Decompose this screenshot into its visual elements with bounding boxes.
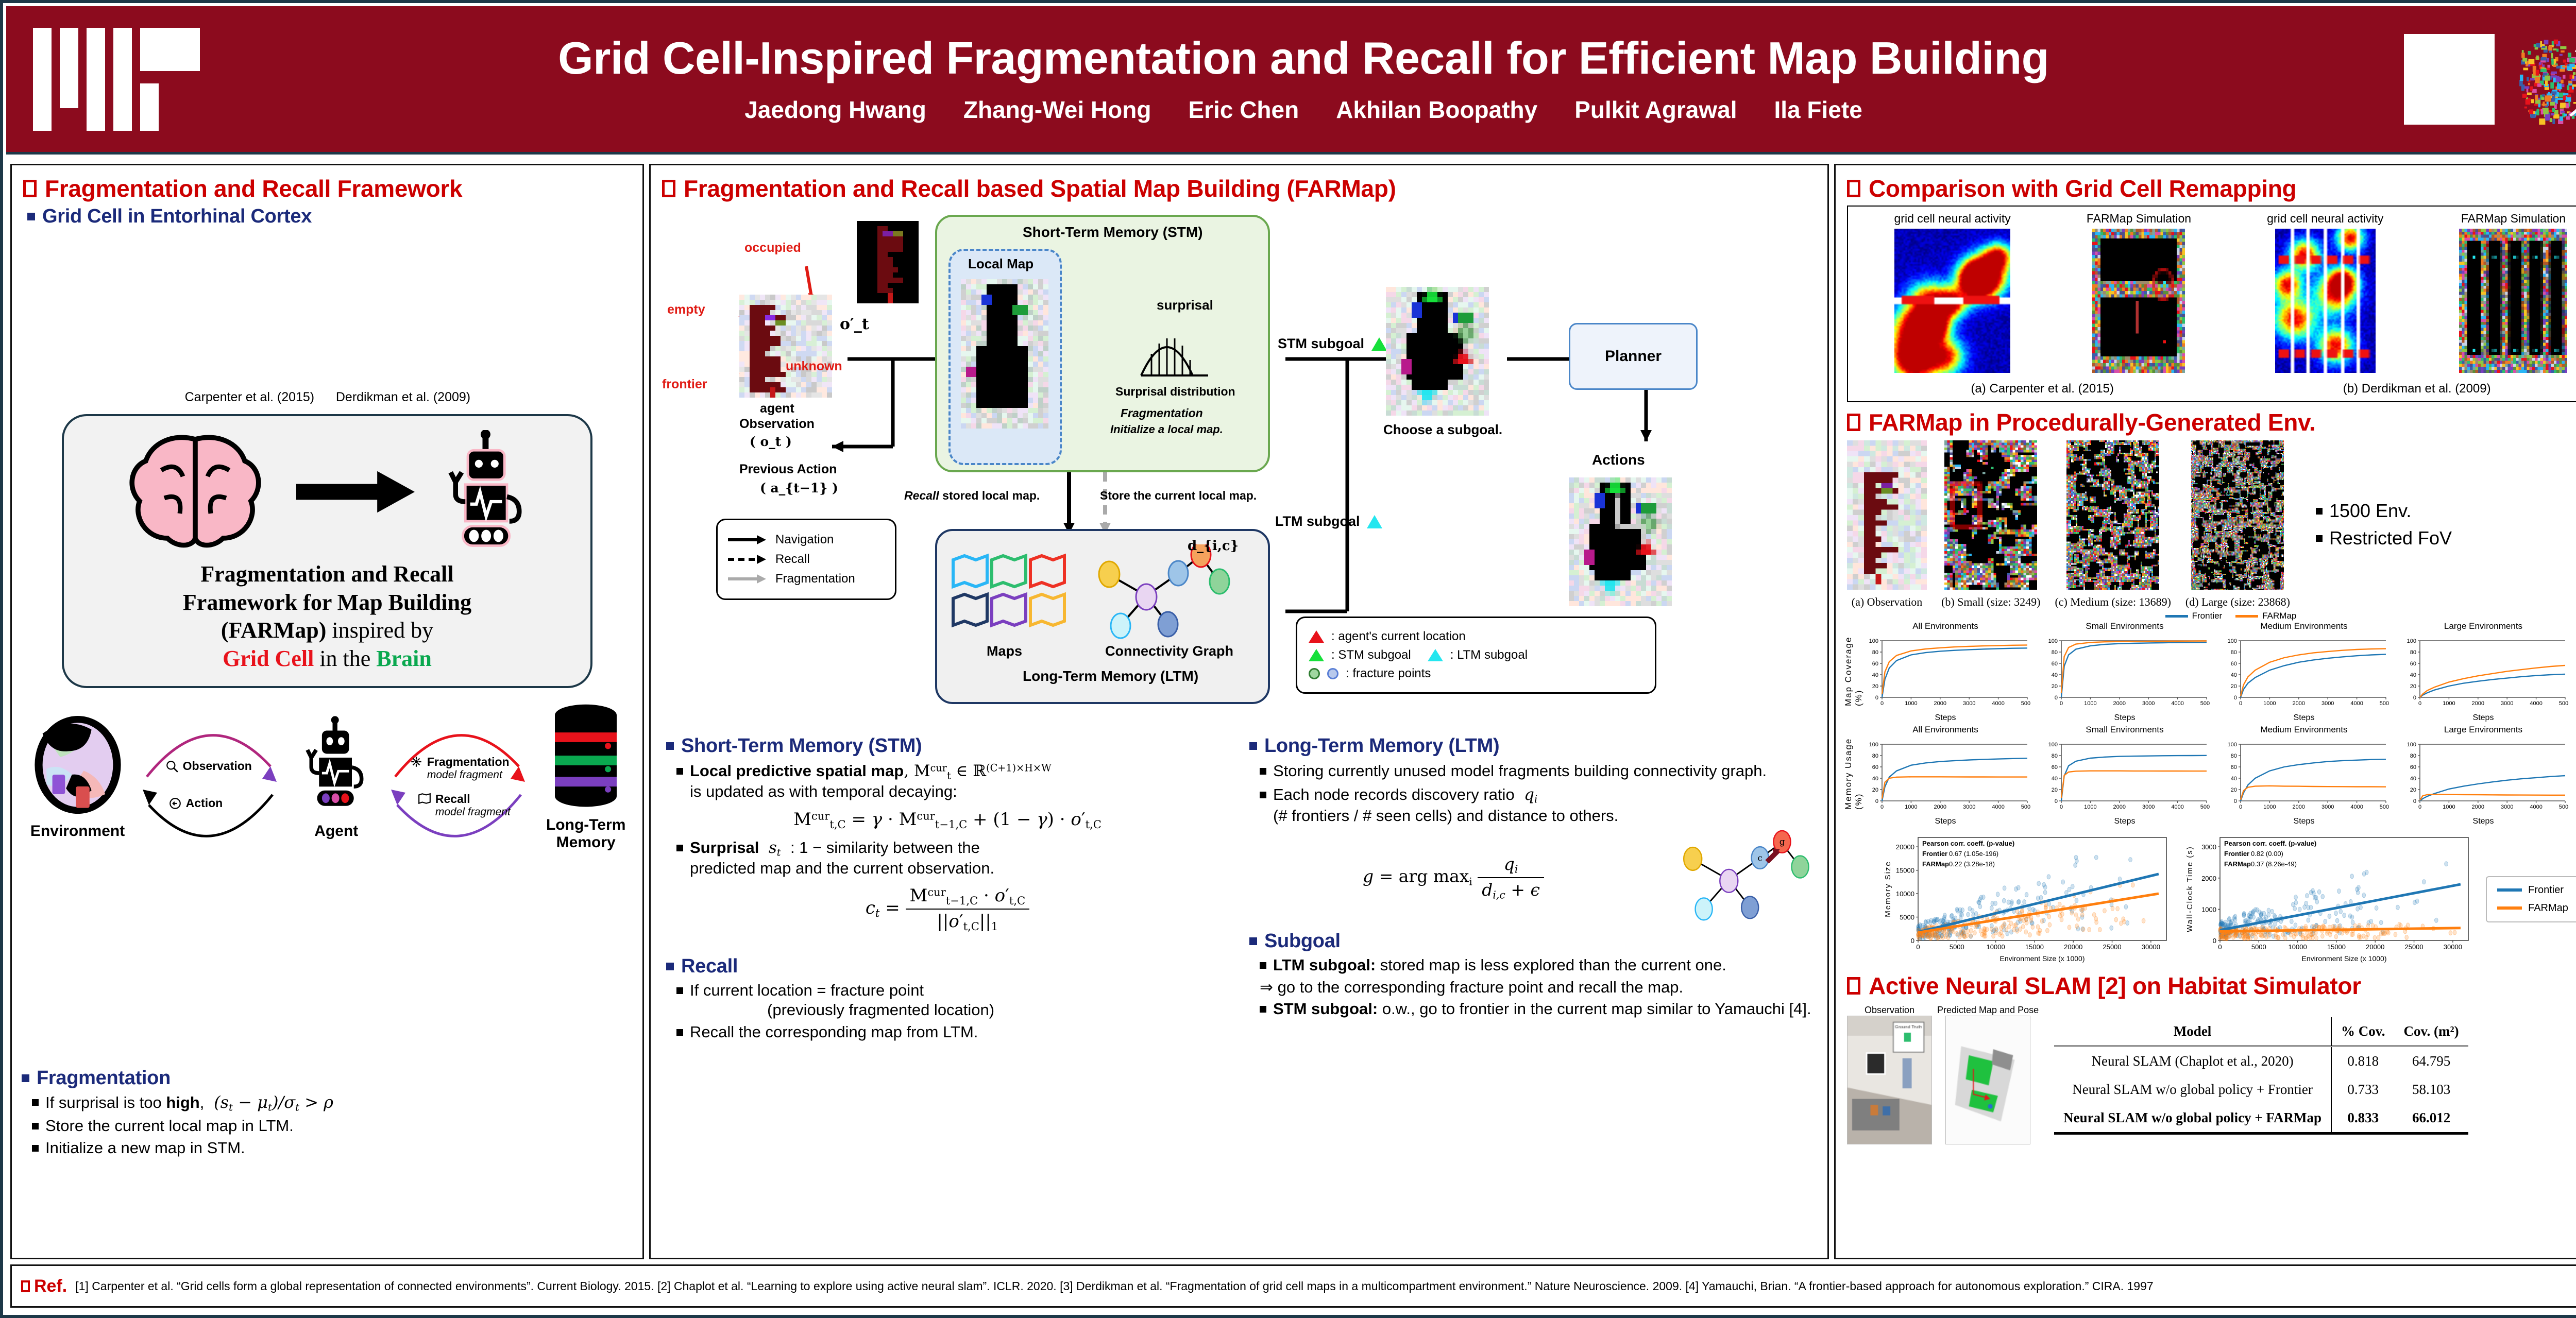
grid-cell-stripes-icon <box>2275 229 2376 373</box>
grid-cell-heatmap-icon <box>184 234 315 383</box>
section-title-text: Active Neural SLAM [2] on Habitat Simula… <box>1869 972 2361 1000</box>
svg-text:80: 80 <box>1872 649 1878 656</box>
label-agent: agent <box>760 401 794 416</box>
svg-text:60: 60 <box>2052 764 2058 771</box>
farmap-acronym: (FARMap) <box>221 618 326 643</box>
proc-bullet-text: Restricted FoV <box>2329 527 2452 550</box>
svg-text:4000: 4000 <box>2530 804 2542 810</box>
section-title-procedural: FARMap in Procedurally-Generated Env. <box>1847 408 2576 436</box>
chart-xlabel: Steps <box>1860 713 2030 723</box>
svg-text:40: 40 <box>2231 776 2237 782</box>
chart-cell: Medium Environments020406080100010002000… <box>2219 725 2389 826</box>
stm-bullet-1: Local predictive spatial map, Mcurt ∈ ℝ(… <box>676 761 1233 802</box>
farmap-simulation-image <box>2092 229 2185 373</box>
remapping-panel: grid cell neural activity FARMap Simulat… <box>1847 206 2576 402</box>
marker-legend-box: : agent's current location : STM subgoal… <box>1296 617 1656 694</box>
svg-text:80: 80 <box>2052 753 2058 759</box>
recall-bullet-1: If current location = fracture point (pr… <box>676 981 1233 1020</box>
fracture-point-icon <box>1309 668 1320 679</box>
chart-xlabel: Steps <box>2398 713 2568 723</box>
table-cell-pct-cov: 0.733 <box>2331 1075 2395 1104</box>
svg-text:FARMap: FARMap <box>2224 860 2251 868</box>
svg-text:20000: 20000 <box>2064 943 2082 951</box>
svg-text:40: 40 <box>2410 776 2416 782</box>
cyan-triangle-icon <box>1367 515 1382 528</box>
loop-label-fragmentation: Fragmentation <box>427 755 510 768</box>
mit-logo-icon <box>33 28 203 131</box>
stm-bullet-2: Surprisal st : 1 − similarity between th… <box>676 838 1233 879</box>
svg-text:10000: 10000 <box>1987 943 2005 951</box>
table-header-model: Model <box>2054 1017 2331 1047</box>
chart-row-scatter: 0500010000150002000005000100001500020000… <box>1847 831 2576 967</box>
label-maps: Maps <box>987 643 1022 659</box>
svg-text:3000: 3000 <box>2321 804 2334 810</box>
ltm-heading: Long-Term Memory (LTM) <box>1249 735 1816 757</box>
ref-label: Ref. <box>21 1276 67 1296</box>
ref-label-text: Ref. <box>34 1276 67 1296</box>
author-name: Eric Chen <box>1188 96 1299 124</box>
section-title-text: FARMap in Procedurally-Generated Env. <box>1869 408 2315 436</box>
small-env-image <box>1944 440 2037 590</box>
bullet-square-icon <box>22 1074 29 1082</box>
subgoal-map-image <box>1386 287 1489 416</box>
svg-text:100: 100 <box>1869 742 1878 748</box>
references-footer: Ref. [1] Carpenter et al. “Grid cells fo… <box>10 1264 2576 1308</box>
fragmentation-bullet-1: If surprisal is too high, (st − μt)/σt >… <box>32 1092 641 1114</box>
in-the-text: in the <box>314 646 376 671</box>
svg-text:40: 40 <box>2231 672 2237 678</box>
remap-b-sim: FARMap Simulation <box>2459 212 2567 375</box>
loop-label-recall: Recall <box>435 792 470 806</box>
svg-text:FARMap: FARMap <box>1922 860 1949 868</box>
subgoal-heading: Subgoal <box>1249 930 1816 952</box>
table-row: Neural SLAM w/o global policy + Frontier… <box>2054 1075 2468 1104</box>
svg-text:60: 60 <box>1872 764 1878 771</box>
label-fragmentation-diag: Fragmentation <box>1121 406 1203 420</box>
svg-text:5000: 5000 <box>2200 804 2210 810</box>
svg-text:60: 60 <box>2410 661 2416 667</box>
recall-bullet-2: Recall the corresponding map from LTM. <box>676 1022 1233 1042</box>
chart-row-memory: All Environments020406080100010002000300… <box>1860 725 2568 826</box>
svg-text:Environment Size (x 1000): Environment Size (x 1000) <box>2302 954 2387 963</box>
chart-cell: All Environments020406080100010002000300… <box>1860 725 2030 826</box>
chart-xlabel: Steps <box>1860 817 2030 826</box>
stm-bullet-2-rest: : 1 − similarity between the <box>790 838 980 857</box>
right-arrow-icon <box>296 466 415 518</box>
svg-text:3000: 3000 <box>1963 700 1975 707</box>
remap-a-neural: grid cell neural activity <box>1894 212 2011 375</box>
legend-fragmentation: Fragmentation <box>728 572 885 586</box>
svg-text:Pearson corr. coeff. (p-value): Pearson corr. coeff. (p-value) <box>1922 840 2014 847</box>
svg-text:1000: 1000 <box>2084 700 2096 707</box>
section-title-remapping: Comparison with Grid Cell Remapping <box>1847 175 2576 202</box>
label-fragmentation-sub: Initialize a local map. <box>1110 423 1223 436</box>
chart-xlabel: Steps <box>2219 713 2389 723</box>
subgoal-bullet-ltm: LTM subgoal: stored map is less explored… <box>1260 955 1816 975</box>
svg-text:1000: 1000 <box>2263 804 2276 810</box>
fragmentation-title: Fragmentation <box>37 1067 171 1089</box>
svg-text:Memory Size: Memory Size <box>1884 861 1892 917</box>
subgoal-ltm-rest: stored map is less explored than the cur… <box>1376 956 1726 974</box>
label-actions: Actions <box>1592 452 1645 468</box>
section-title-text: Fragmentation and Recall based Spatial M… <box>684 175 1396 202</box>
recall-bullet-subtext: (previously fragmented location) <box>767 1000 994 1020</box>
robot-icon <box>438 430 536 554</box>
svg-text:100: 100 <box>2228 638 2237 644</box>
svg-text:20: 20 <box>1872 683 1878 690</box>
fragmentation-bullet-2: Store the current local map in LTM. <box>32 1116 641 1136</box>
remap-subtitle: grid cell neural activity <box>1894 212 2011 226</box>
qr-block <box>2404 34 2576 125</box>
svg-text:0: 0 <box>1875 798 1878 805</box>
chart-cell: Medium Environments020406080100010002000… <box>2219 621 2389 723</box>
svg-text:5000: 5000 <box>2200 700 2210 707</box>
observation-patch <box>739 295 832 398</box>
proc-bullet-text: 1500 Env. <box>2329 500 2411 523</box>
subgoal-title: Subgoal <box>1264 930 1341 952</box>
ltm-formula: g = arg maxi qidi,c + ϵ <box>1245 854 1662 901</box>
svg-text:4000: 4000 <box>2350 700 2363 707</box>
fragmentation-block: Fragmentation If surprisal is too high, … <box>18 1064 641 1160</box>
remap-subtitle: FARMap Simulation <box>2087 212 2191 226</box>
svg-text:80: 80 <box>2231 649 2237 656</box>
svg-text:1000: 1000 <box>1905 804 1917 810</box>
chart-cell: Small Environments0204060801000100020003… <box>2040 725 2210 826</box>
svg-text:20000: 20000 <box>2366 943 2384 951</box>
inspiration-line-4: Grid Cell in the Brain <box>77 645 577 673</box>
section-bullet-icon <box>1847 977 1860 995</box>
figure-caption: Carpenter et al. (2015) <box>184 390 315 405</box>
svg-text:1000: 1000 <box>2263 700 2276 707</box>
svg-text:2000: 2000 <box>2472 804 2484 810</box>
ltm-bullet-2-a: Each node records discovery ratio <box>1273 785 1515 803</box>
svg-text:20: 20 <box>2231 787 2237 793</box>
svg-text:5000: 5000 <box>2380 700 2389 707</box>
subgoal-arrow-text: ⇒ go to the corresponding fracture point… <box>1260 978 1683 997</box>
y-axis-label-memory: Memory Usage (%) <box>1847 725 1860 810</box>
legend-frontier: Frontier <box>2528 884 2564 896</box>
svg-text:0: 0 <box>2413 695 2416 701</box>
svg-text:5000: 5000 <box>1950 943 1964 951</box>
inspiration-text: Fragmentation and Recall Framework for M… <box>77 560 577 673</box>
proc-figure-observation: (a) Observation <box>1847 440 1927 609</box>
brain-highlight: Brain <box>376 646 432 671</box>
remap-b-neural: grid cell neural activity <box>2267 212 2383 375</box>
svg-text:5000: 5000 <box>2559 804 2568 810</box>
svg-text:40: 40 <box>2410 672 2416 678</box>
svg-text:Pearson corr. coeff. (p-value): Pearson corr. coeff. (p-value) <box>2224 840 2316 847</box>
svg-text:0: 0 <box>2418 700 2421 707</box>
subgoal-ltm-bold: LTM subgoal: <box>1273 956 1376 974</box>
svg-text:100: 100 <box>2048 638 2058 644</box>
table-cell-cov: 64.795 <box>2395 1047 2468 1076</box>
chart-title: Large Environments <box>2398 725 2568 735</box>
svg-text:80: 80 <box>2231 753 2237 759</box>
figure-derdikman: Derdikman et al. (2009) <box>336 234 470 405</box>
svg-text:0.37 (8.26e-49): 0.37 (8.26e-49) <box>2251 860 2297 868</box>
green-triangle-icon <box>1371 337 1387 351</box>
label-recall-arrow: Recall <box>904 489 939 502</box>
chart-cell: All Environments020406080100010002000300… <box>1860 621 2030 723</box>
svg-text:100: 100 <box>2048 742 2058 748</box>
svg-text:60: 60 <box>1872 661 1878 667</box>
svg-text:30000: 30000 <box>2142 943 2160 951</box>
chart-top-legend: Frontier FARMap <box>1847 611 2576 621</box>
stm-bullet-1-line2: is updated as with temporal decaying: <box>690 782 957 800</box>
stm-formula-2: ct = Mcurt−1,C · o′t,C||o′t,C||1 <box>662 885 1233 933</box>
svg-text:0: 0 <box>2239 700 2242 707</box>
symbol-ot-prime: o′_t <box>840 315 869 333</box>
legend-farmap: FARMap <box>2262 611 2296 621</box>
loop-label-agent: Agent <box>298 823 375 840</box>
svg-text:15000: 15000 <box>2327 943 2346 951</box>
recall-heading: Recall <box>666 955 1233 978</box>
grid-cell-highlight: Grid Cell <box>223 646 314 671</box>
habitat-predicted: Predicted Map and Pose <box>1937 1005 2039 1147</box>
svg-text:0: 0 <box>2055 798 2058 805</box>
svg-text:4000: 4000 <box>1992 700 2004 707</box>
svg-text:2000: 2000 <box>1934 804 1946 810</box>
ltm-bullet-1-text: Storing currently unused model fragments… <box>1273 761 1767 781</box>
ltm-text-block: Long-Term Memory (LTM) Storing currently… <box>1245 732 1816 1044</box>
svg-text:3000: 3000 <box>2321 700 2334 707</box>
fragmentation-bullet-3: Initialize a new map in STM. <box>32 1138 641 1158</box>
observation-image <box>1847 440 1927 590</box>
subgoal-bullet-stm: STM subgoal: o.w., go to frontier in the… <box>1260 999 1816 1019</box>
label-stm-subgoal: STM subgoal <box>1278 336 1364 352</box>
svg-text:Wall-Clock Time (s): Wall-Clock Time (s) <box>2185 846 2194 932</box>
scatter-memory-size: 0500010000150002000005000100001500020000… <box>1882 831 2171 967</box>
inspiration-box: Fragmentation and Recall Framework for M… <box>62 414 592 688</box>
legend-navigation: Navigation <box>728 533 885 547</box>
svg-text:2000: 2000 <box>2293 804 2305 810</box>
remap-a-sim: FARMap Simulation <box>2087 212 2191 375</box>
bullet-square-icon <box>1249 937 1257 945</box>
svg-text:0: 0 <box>2234 798 2237 805</box>
table-cell-pct-cov: 0.818 <box>2331 1047 2395 1076</box>
table-cell-cov: 66.012 <box>2395 1104 2468 1134</box>
svg-text:Frontier: Frontier <box>1922 850 1947 858</box>
slam-row: Observation Predicted Map and Pose Model… <box>1847 1005 2576 1147</box>
label-ltm-subgoal: LTM subgoal <box>1275 513 1360 529</box>
legend-agent-location: : agent's current location <box>1309 629 1643 644</box>
chart-cell: Large Environments0204060801000100020003… <box>2398 621 2568 723</box>
title-block: Grid Cell-Inspired Fragmentation and Rec… <box>203 35 2404 123</box>
bullet-square-icon <box>27 213 35 220</box>
legend-recall: Recall <box>728 552 885 567</box>
grid-cell-figures: Carpenter et al. (2015) Derdikman et al.… <box>23 234 631 405</box>
svg-text:5000: 5000 <box>2021 700 2030 707</box>
subsection-grid-cell: Grid Cell in Entorhinal Cortex <box>27 206 631 228</box>
svg-text:25000: 25000 <box>2103 943 2122 951</box>
symbol-previous-action: ( a_{t−1} ) <box>760 481 838 495</box>
svg-text:60: 60 <box>2052 661 2058 667</box>
svg-text:100: 100 <box>2407 638 2416 644</box>
chart-row-coverage: All Environments020406080100010002000300… <box>1860 621 2568 723</box>
svg-text:0.67 (1.05e-196): 0.67 (1.05e-196) <box>1949 850 1998 858</box>
loop-agent: Agent <box>298 714 375 840</box>
stm-formula-1: Mcurt,C = γ · Mcurt−1,C + (1 − γ) · o′t,… <box>662 809 1233 831</box>
bullet-square-icon <box>1249 742 1257 750</box>
actions-map-image <box>1569 477 1672 606</box>
svg-text:0: 0 <box>1880 804 1884 810</box>
recall-title: Recall <box>681 955 738 978</box>
svg-text:3000: 3000 <box>2142 700 2155 707</box>
farmap-simulation-image <box>2459 229 2567 373</box>
table-row: Neural SLAM w/o global policy + FARMap0.… <box>2054 1104 2468 1134</box>
svg-text:5000: 5000 <box>1900 914 1914 921</box>
svg-text:80: 80 <box>2410 649 2416 656</box>
graph-node-c: c <box>1758 853 1762 863</box>
table-cell-pct-cov: 0.833 <box>2331 1104 2395 1134</box>
label-previous-action: Previous Action <box>739 462 837 477</box>
table-header-pct-cov: % Cov. <box>2331 1017 2395 1047</box>
loop-sub-recall: model fragment <box>435 806 511 818</box>
chart-title: All Environments <box>1860 725 2030 735</box>
qr-code-icon[interactable] <box>2404 34 2495 125</box>
legend-subgoals: : STM subgoal : LTM subgoal <box>1309 648 1643 662</box>
stm-box-title: Short-Term Memory (STM) <box>1023 224 1203 241</box>
chart-xlabel: Steps <box>2219 817 2389 826</box>
habitat-obs-title: Observation <box>1847 1005 1932 1016</box>
agent-environment-loop: Environment Observation <box>23 699 631 854</box>
svg-text:0: 0 <box>2060 804 2063 810</box>
section-title-framework: Fragmentation and Recall Framework <box>23 175 631 202</box>
stm-text-block: Short-Term Memory (STM) Local predictive… <box>662 732 1233 1044</box>
grid-cell-stripes-icon <box>359 234 447 383</box>
procedural-bullets: 1500 Env. Restricted FoV <box>2316 495 2452 554</box>
loop-label-observation: Observation <box>183 759 252 773</box>
svg-text:3000: 3000 <box>2501 804 2513 810</box>
author-name: Jaedong Hwang <box>744 96 926 124</box>
habitat-observation-image <box>1847 1016 1932 1144</box>
svg-text:0: 0 <box>2055 695 2058 701</box>
green-triangle-icon <box>1309 649 1324 661</box>
label-frontier: frontier <box>662 377 707 392</box>
raw-observation-map <box>857 221 919 303</box>
remap-caption: (b) Derdikman et al. (2009) <box>2343 382 2491 396</box>
label-occupied: occupied <box>744 241 801 255</box>
svg-text:100: 100 <box>1869 638 1878 644</box>
legend-label: : LTM subgoal <box>1450 648 1528 662</box>
figure-caption: Derdikman et al. (2009) <box>336 390 470 405</box>
remap-caption: (a) Carpenter et al. (2015) <box>1971 382 2113 396</box>
poster-root: Grid Cell-Inspired Fragmentation and Rec… <box>0 0 2576 1318</box>
label-surprisal: surprisal <box>1157 297 1213 313</box>
svg-text:0: 0 <box>2218 943 2222 951</box>
loop-long-term-memory: Long-TermMemory <box>546 703 625 851</box>
legend-label: : agent's current location <box>1331 629 1466 644</box>
section-bullet-icon <box>21 1280 30 1292</box>
ref-text: [1] Carpenter et al. “Grid cells form a … <box>75 1279 2153 1293</box>
loop-label-ltm: Long-TermMemory <box>546 816 625 851</box>
svg-text:40: 40 <box>1872 776 1878 782</box>
svg-text:1000: 1000 <box>1905 700 1917 707</box>
svg-text:5000: 5000 <box>2251 943 2266 951</box>
svg-text:2000: 2000 <box>2472 700 2484 707</box>
label-observation: Observation <box>739 417 815 432</box>
svg-text:3000: 3000 <box>2501 700 2513 707</box>
cyan-triangle-icon <box>1428 649 1443 661</box>
large-env-image <box>2191 440 2284 590</box>
loop-environment: Environment <box>29 714 127 840</box>
svg-text:1000: 1000 <box>2443 700 2455 707</box>
grid-cell-heatmap-icon <box>1894 229 2010 373</box>
svg-text:5000: 5000 <box>2559 700 2568 707</box>
loop-sub-fragmentation: model fragment <box>427 769 510 781</box>
figure-carpenter: Carpenter et al. (2015) <box>184 234 315 405</box>
svg-text:0.22 (3.28e-18): 0.22 (3.28e-18) <box>1949 860 1995 868</box>
svg-text:0.82 (0.00): 0.82 (0.00) <box>2251 850 2283 858</box>
svg-text:30000: 30000 <box>2444 943 2462 951</box>
bullet-square-icon <box>666 963 674 970</box>
author-name: Ila Fiete <box>1774 96 1862 124</box>
section-title-text: Fragmentation and Recall Framework <box>45 175 462 202</box>
svg-text:25000: 25000 <box>2405 943 2424 951</box>
scatter-legend: Frontier FARMap <box>2486 876 2576 922</box>
surprisal-distribution-icon <box>1136 324 1244 381</box>
stm-bullet-2-bold: Surprisal <box>690 838 759 857</box>
database-icon <box>547 703 624 811</box>
stm-heading: Short-Term Memory (STM) <box>666 735 1233 757</box>
y-axis-label-coverage: Map Coverage (%) <box>1847 621 1860 706</box>
chart-title: Medium Environments <box>2219 725 2389 735</box>
stm-bullet-2-line2: predicted map and the current observatio… <box>690 859 994 877</box>
fragmentation-icon <box>410 755 423 768</box>
svg-text:60: 60 <box>2410 764 2416 771</box>
fragmentation-bullet-text: Initialize a new map in STM. <box>45 1138 245 1158</box>
column-right: Comparison with Grid Cell Remapping grid… <box>1834 164 2576 1259</box>
recall-bullet-text: If current location = fracture point <box>690 981 924 999</box>
svg-text:0: 0 <box>1916 943 1920 951</box>
legend-fracture-points: : fracture points <box>1309 666 1643 681</box>
svg-text:3000: 3000 <box>1963 804 1975 810</box>
svg-text:0: 0 <box>2418 804 2421 810</box>
poster-header: Grid Cell-Inspired Fragmentation and Rec… <box>6 6 2576 155</box>
svg-text:20: 20 <box>2410 787 2416 793</box>
local-map-title: Local Map <box>968 256 1033 272</box>
inspiration-icons <box>77 427 577 556</box>
author-name: Zhang-Wei Hong <box>963 96 1151 124</box>
fracture-point-icon <box>1327 668 1338 679</box>
svg-text:20000: 20000 <box>1896 843 1914 851</box>
stm-bullet-1-bold: Local predictive spatial map <box>690 762 904 780</box>
planner-label: Planner <box>1605 348 1662 365</box>
section-title-farmap: Fragmentation and Recall based Spatial M… <box>662 175 1816 202</box>
label-recall-arrow-rest: stored local map. <box>942 489 1040 502</box>
chart-title: Medium Environments <box>2219 621 2389 631</box>
scatter-wallclock: 0100020003000050001000015000200002500030… <box>2184 831 2472 967</box>
legend-label: Fragmentation <box>775 572 855 586</box>
inspired-by-text: inspired by <box>326 618 433 643</box>
svg-text:5000: 5000 <box>2380 804 2389 810</box>
figure-caption: (c) Medium (size: 13689) <box>2055 595 2171 609</box>
habitat-pred-title: Predicted Map and Pose <box>1937 1005 2039 1016</box>
svg-text:0: 0 <box>2060 700 2063 707</box>
subgoal-stm-bold: STM subgoal: <box>1273 1000 1378 1018</box>
habitat-predicted-map-image <box>1945 1016 2030 1144</box>
recall-map-icon <box>418 792 431 806</box>
author-name: Pulkit Agrawal <box>1574 96 1737 124</box>
label-empty: empty <box>667 302 705 317</box>
svg-text:2000: 2000 <box>2113 700 2126 707</box>
table-cell-model: Neural SLAM w/o global policy + Frontier <box>2054 1075 2331 1104</box>
svg-text:4000: 4000 <box>2171 700 2183 707</box>
svg-text:1000: 1000 <box>2084 804 2096 810</box>
maps-stack-icon <box>951 550 1069 637</box>
planner-box[interactable]: Planner <box>1569 323 1698 390</box>
proc-bullet-fov: Restricted FoV <box>2316 527 2452 550</box>
